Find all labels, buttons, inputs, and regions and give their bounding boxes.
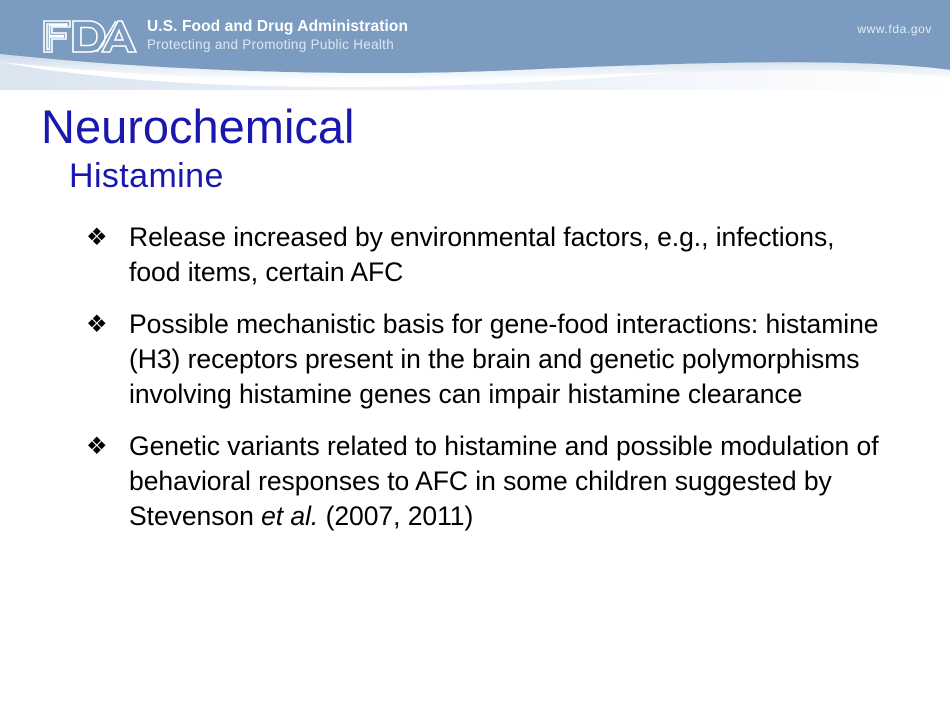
diamond-bullet-icon: ❖	[83, 220, 129, 255]
agency-name: U.S. Food and Drug Administration	[147, 17, 408, 36]
list-item: ❖ Release increased by environmental fac…	[83, 220, 893, 290]
list-item-citation-italic: et al.	[261, 501, 318, 531]
slide-content: Neurochemical Histamine ❖ Release increa…	[0, 90, 950, 713]
header-content: U.S. Food and Drug Administration Protec…	[0, 0, 950, 62]
list-item-text: Possible mechanistic basis for gene-food…	[129, 307, 893, 412]
list-item: ❖ Genetic variants related to histamine …	[83, 429, 893, 534]
slide-subtitle: Histamine	[69, 156, 224, 196]
bullet-list: ❖ Release increased by environmental fac…	[83, 220, 893, 551]
list-item-text: Release increased by environmental facto…	[129, 220, 893, 290]
list-item-text-part: Genetic variants related to histamine an…	[129, 431, 879, 531]
list-item-citation-years: (2007, 2011)	[318, 501, 473, 531]
fda-website-url: www.fda.gov	[857, 22, 932, 36]
fda-logo-icon	[40, 15, 138, 56]
slide-title: Neurochemical	[41, 100, 354, 154]
diamond-bullet-icon: ❖	[83, 429, 129, 464]
diamond-bullet-icon: ❖	[83, 307, 129, 342]
list-item-text: Genetic variants related to histamine an…	[129, 429, 893, 534]
list-item-text-part: Release increased by environmental facto…	[129, 222, 834, 287]
agency-identity: U.S. Food and Drug Administration Protec…	[147, 17, 408, 53]
list-item-text-part: Possible mechanistic basis for gene-food…	[129, 309, 879, 409]
page-header: U.S. Food and Drug Administration Protec…	[0, 0, 950, 90]
list-item: ❖ Possible mechanistic basis for gene-fo…	[83, 307, 893, 412]
agency-tagline: Protecting and Promoting Public Health	[147, 36, 408, 53]
